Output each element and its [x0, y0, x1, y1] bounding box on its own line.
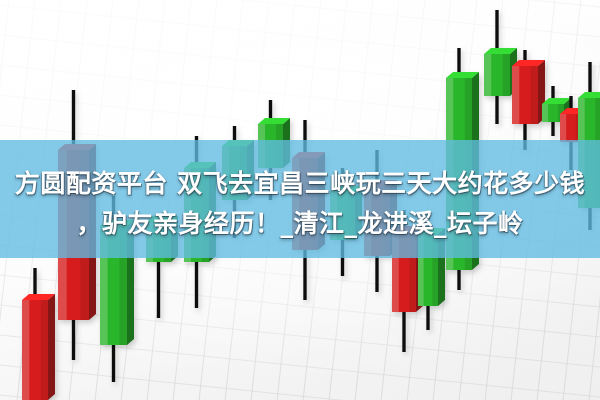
headline-line-1: 方圆配资平台 双飞去宜昌三峡玩三天大约花多少钱 — [0, 164, 600, 204]
banner-image: 方圆配资平台 双飞去宜昌三峡玩三天大约花多少钱 ，驴友亲身经历！_清江_龙进溪_… — [0, 0, 600, 400]
headline-line-2: ，驴友亲身经历！_清江_龙进溪_坛子岭 — [0, 204, 600, 244]
